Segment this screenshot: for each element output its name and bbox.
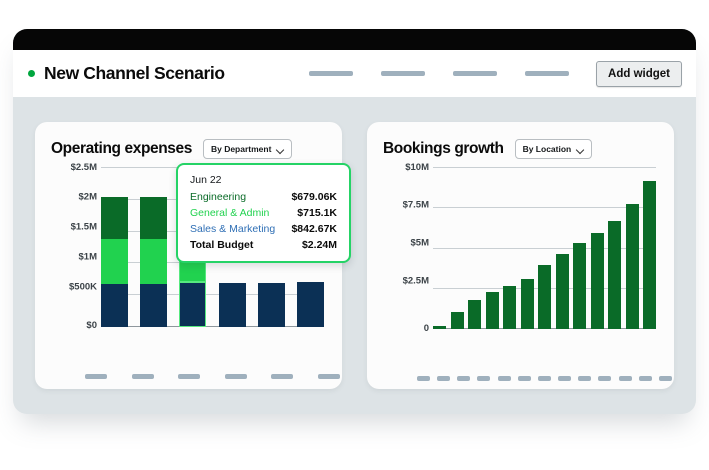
- bar-fill: [451, 312, 464, 329]
- bar-fill: [521, 279, 534, 329]
- x-axis-placeholder[interactable]: [225, 374, 247, 379]
- bar-segment: [101, 239, 128, 284]
- bar-stack[interactable]: [140, 167, 167, 327]
- bar[interactable]: [503, 167, 516, 329]
- nav-placeholder-3[interactable]: [453, 71, 497, 76]
- x-axis-placeholder[interactable]: [639, 376, 652, 381]
- tooltip-series-name: General & Admin: [190, 207, 269, 219]
- bar[interactable]: [433, 167, 446, 329]
- y-tick-label: $7.5M: [403, 200, 429, 210]
- x-axis-placeholder[interactable]: [598, 376, 611, 381]
- status-dot-icon: [28, 70, 35, 77]
- page-title: New Channel Scenario: [44, 63, 225, 84]
- bar-fill: [538, 265, 551, 329]
- bar-fill: [608, 221, 621, 330]
- bar-fill: [556, 254, 569, 329]
- x-axis-placeholder[interactable]: [437, 376, 450, 381]
- bar-stack[interactable]: [101, 167, 128, 327]
- bar[interactable]: [573, 167, 586, 329]
- bar-segment: [140, 284, 167, 327]
- y-tick-label: $2M: [79, 192, 97, 202]
- bar-fill: [433, 326, 446, 329]
- tooltip-row: Sales & Marketing$842.67K: [190, 223, 337, 235]
- card-header-operating-expenses: Operating expenses By Department: [51, 139, 326, 159]
- bar[interactable]: [591, 167, 604, 329]
- x-axis-placeholder[interactable]: [619, 376, 632, 381]
- tooltip-rows: Engineering$679.06KGeneral & Admin$715.1…: [190, 191, 337, 235]
- tooltip-series-value: $715.1K: [297, 207, 337, 219]
- chevron-down-icon: [577, 146, 584, 153]
- browser-title-bar: [13, 29, 696, 50]
- tooltip-series-value: $842.67K: [291, 223, 337, 235]
- tooltip-total-label: Total Budget: [190, 239, 253, 251]
- tooltip-total-value: $2.24M: [302, 239, 337, 251]
- bar-segment: [219, 283, 246, 327]
- y-tick-label: $2.5M: [403, 277, 429, 287]
- bar[interactable]: [521, 167, 534, 329]
- bar-fill: [503, 286, 516, 329]
- tooltip-row: Engineering$679.06K: [190, 191, 337, 203]
- y-tick-label: $1.5M: [71, 222, 97, 232]
- x-axis-placeholder[interactable]: [518, 376, 531, 381]
- dropdown-by-department[interactable]: By Department: [203, 139, 292, 159]
- bar[interactable]: [643, 167, 656, 329]
- y-axis-labels-bookings-growth: $10M$7.5M$5M$2.5M0: [383, 167, 429, 329]
- x-axis-placeholder[interactable]: [178, 374, 200, 379]
- x-axis-placeholders-operating-expenses: [85, 374, 340, 379]
- add-widget-button[interactable]: Add widget: [596, 61, 682, 87]
- x-axis-placeholder[interactable]: [132, 374, 154, 379]
- nav-placeholder-group: [309, 71, 569, 76]
- dropdown-by-department-label: By Department: [211, 144, 271, 154]
- tooltip-series-name: Sales & Marketing: [190, 223, 275, 235]
- y-tick-label: $1M: [79, 253, 97, 263]
- bar-segment: [101, 284, 128, 327]
- y-tick-label: $5M: [411, 239, 429, 249]
- bar-segment: [297, 282, 324, 327]
- nav-placeholder-1[interactable]: [309, 71, 353, 76]
- app-header: New Channel Scenario Add widget: [13, 50, 696, 97]
- x-axis-placeholder[interactable]: [538, 376, 551, 381]
- widget-board: Operating expenses By Department $2.5M$2…: [13, 97, 696, 414]
- card-title-operating-expenses: Operating expenses: [51, 140, 192, 158]
- chart-bookings-growth: $10M$7.5M$5M$2.5M0: [383, 167, 658, 329]
- bar-fill: [468, 300, 481, 329]
- chart-tooltip: Jun 22 Engineering$679.06KGeneral & Admi…: [176, 163, 351, 263]
- card-title-bookings-growth: Bookings growth: [383, 140, 504, 158]
- x-axis-placeholder[interactable]: [417, 376, 430, 381]
- x-axis-placeholder[interactable]: [457, 376, 470, 381]
- x-axis-placeholder[interactable]: [477, 376, 490, 381]
- x-axis-placeholder[interactable]: [318, 374, 340, 379]
- bar-fill: [591, 233, 604, 329]
- x-axis-placeholder[interactable]: [271, 374, 293, 379]
- bar-segment: [179, 282, 206, 327]
- y-tick-label: $0: [86, 321, 97, 331]
- bar[interactable]: [468, 167, 481, 329]
- tooltip-row: General & Admin$715.1K: [190, 207, 337, 219]
- x-axis-placeholder[interactable]: [85, 374, 107, 379]
- bars-bookings-growth: [433, 167, 656, 329]
- bar-fill: [626, 204, 639, 329]
- bar[interactable]: [538, 167, 551, 329]
- y-tick-label: $10M: [405, 163, 429, 173]
- y-tick-label: $500K: [69, 283, 97, 293]
- card-header-bookings-growth: Bookings growth By Location: [383, 139, 658, 159]
- screenshot-stage: New Channel Scenario Add widget Operatin…: [0, 0, 709, 470]
- bar[interactable]: [608, 167, 621, 329]
- dashboard-window: New Channel Scenario Add widget Operatin…: [13, 29, 696, 414]
- bar-segment: [258, 283, 285, 327]
- tooltip-series-name: Engineering: [190, 191, 246, 203]
- bar-segment: [101, 197, 128, 239]
- chevron-down-icon: [277, 146, 284, 153]
- nav-placeholder-4[interactable]: [525, 71, 569, 76]
- bar-fill: [573, 243, 586, 329]
- widget-operating-expenses: Operating expenses By Department $2.5M$2…: [35, 122, 342, 389]
- nav-placeholder-2[interactable]: [381, 71, 425, 76]
- x-axis-placeholder[interactable]: [659, 376, 672, 381]
- x-axis-placeholders-bookings-growth: [417, 376, 672, 381]
- tooltip-series-value: $679.06K: [291, 191, 337, 203]
- bar-segment: [140, 239, 167, 284]
- widget-bookings-growth: Bookings growth By Location $10M$7.5M$5M…: [367, 122, 674, 389]
- x-axis-placeholder[interactable]: [578, 376, 591, 381]
- y-axis-labels-operating-expenses: $2.5M$2M$1.5M$1M$500K$0: [51, 167, 97, 327]
- tooltip-date: Jun 22: [190, 174, 337, 186]
- y-tick-label: 0: [424, 324, 429, 334]
- x-axis-placeholder[interactable]: [498, 376, 511, 381]
- tooltip-total-row: Total Budget $2.24M: [190, 239, 337, 251]
- dropdown-by-location[interactable]: By Location: [515, 139, 593, 159]
- x-axis-placeholder[interactable]: [558, 376, 571, 381]
- bar-segment: [140, 197, 167, 239]
- bar[interactable]: [451, 167, 464, 329]
- bar-fill: [643, 181, 656, 329]
- bar[interactable]: [486, 167, 499, 329]
- bar[interactable]: [556, 167, 569, 329]
- dropdown-by-location-label: By Location: [523, 144, 572, 154]
- y-tick-label: $2.5M: [71, 163, 97, 173]
- bar-fill: [486, 292, 499, 329]
- bar[interactable]: [626, 167, 639, 329]
